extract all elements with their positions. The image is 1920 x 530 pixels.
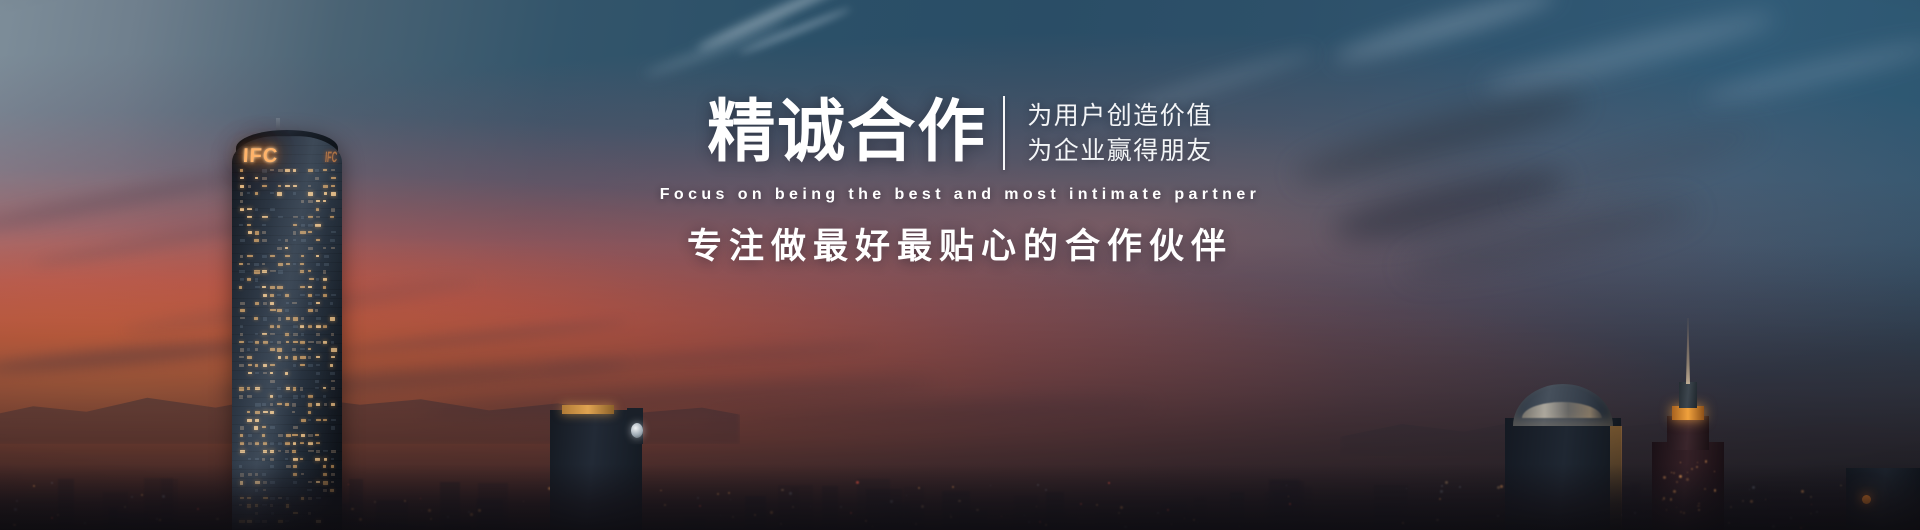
banner-headline: 精诚合作 xyxy=(707,98,987,167)
banner-subline-1: 为用户创造价值 xyxy=(1027,103,1213,128)
headline-divider-rule xyxy=(1003,96,1005,170)
headline-row: 精诚合作 为用户创造价值 为企业赢得朋友 xyxy=(707,96,1213,170)
banner-english-tagline: Focus on being the best and most intimat… xyxy=(660,186,1261,204)
banner-copy-block: 精诚合作 为用户创造价值 为企业赢得朋友 Focus on being the … xyxy=(0,96,1920,269)
hero-banner: IFC IFC 精诚合作 为用户创造价值 为企业赢得朋友 Focus on be… xyxy=(0,0,1920,530)
banner-slogan: 专注做最好最贴心的合作伙伴 xyxy=(687,218,1233,269)
banner-sublines: 为用户创造价值 为企业赢得朋友 xyxy=(1027,103,1213,163)
banner-subline-2: 为企业赢得朋友 xyxy=(1027,138,1213,163)
